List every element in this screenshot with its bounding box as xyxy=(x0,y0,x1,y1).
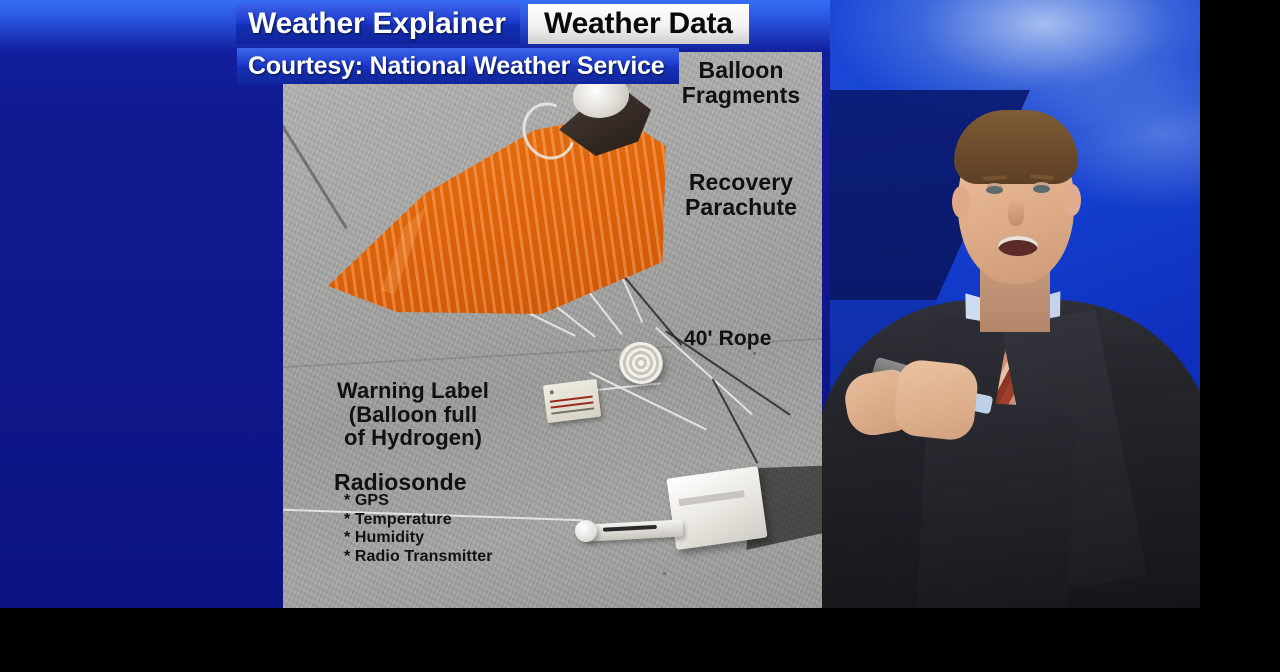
presenter-ear-left xyxy=(952,186,970,218)
concrete-speck xyxy=(753,352,756,355)
presenter-mouth xyxy=(998,236,1038,256)
label-recovery-parachute-line2: Parachute xyxy=(671,195,811,220)
presenter-eye-right xyxy=(1033,185,1050,193)
label-warning: Warning Label (Balloon full of Hydrogen) xyxy=(318,379,508,450)
label-warning-line3: of Hydrogen) xyxy=(318,426,508,450)
rope-segment xyxy=(712,378,759,464)
radiosonde-feature-list: * GPS * Temperature * Humidity * Radio T… xyxy=(344,492,493,567)
label-balloon-fragments: Balloon Fragments xyxy=(671,58,811,107)
courtesy-credit-bar: Courtesy: National Weather Service xyxy=(237,48,679,84)
label-rope: 40' Rope xyxy=(684,328,772,350)
radiosonde-sensor-boom xyxy=(587,519,684,541)
label-warning-line2: (Balloon full xyxy=(318,403,508,427)
letterbox-bar-right xyxy=(1200,0,1280,672)
label-balloon-fragments-line1: Balloon xyxy=(671,58,811,83)
concrete-speck xyxy=(663,572,666,575)
radiosonde-feature-item: * Radio Transmitter xyxy=(344,548,493,567)
label-balloon-fragments-line2: Fragments xyxy=(671,83,811,108)
presenter-hair xyxy=(954,110,1078,184)
label-recovery-parachute-line1: Recovery xyxy=(671,170,811,195)
concrete-seam xyxy=(283,92,348,229)
label-radiosonde-title: Radiosonde xyxy=(334,470,467,495)
video-frame: Balloon Fragments Recovery Parachute 40'… xyxy=(0,0,1200,608)
headline-segment-bar: Weather Explainer xyxy=(236,4,520,44)
presenter-eye-left xyxy=(986,186,1003,194)
label-warning-line1: Warning Label xyxy=(318,379,508,403)
presenter xyxy=(830,0,1200,608)
radiosonde-feature-item: * GPS xyxy=(344,492,493,511)
radiosonde-body xyxy=(666,466,767,550)
radiosonde-feature-item: * Temperature xyxy=(344,511,493,530)
radiosonde-sensor-bulb xyxy=(575,520,597,542)
hydrogen-warning-tag xyxy=(543,379,601,423)
presenter-hand-left xyxy=(892,358,980,442)
rope-coil xyxy=(619,342,663,384)
radiosonde-feature-item: * Humidity xyxy=(344,529,493,548)
presenter-nose xyxy=(1008,198,1024,226)
headline-topic-bar: Weather Data xyxy=(528,4,749,44)
presenter-ear-right xyxy=(1063,184,1081,216)
label-recovery-parachute: Recovery Parachute xyxy=(671,170,811,219)
broadcast-screenshot: Balloon Fragments Recovery Parachute 40'… xyxy=(0,0,1280,672)
letterbox-bar-bottom xyxy=(0,608,1280,672)
